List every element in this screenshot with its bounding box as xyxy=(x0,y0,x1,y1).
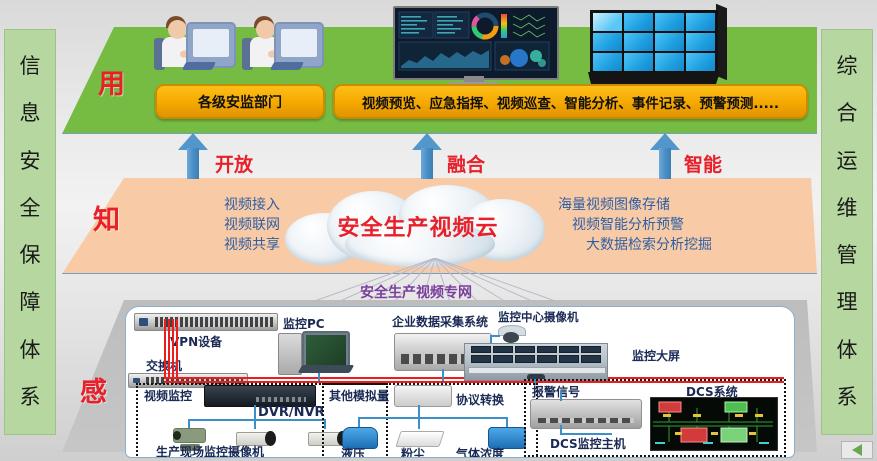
link-dvr-down xyxy=(254,405,256,419)
video-wall-cell xyxy=(593,33,622,51)
layer-tag-use: 用 xyxy=(98,62,125,101)
bus-link xyxy=(168,319,170,377)
link-conv-down xyxy=(418,405,420,417)
dome-camera-icon xyxy=(498,325,524,345)
pc-monitor-icon xyxy=(302,331,350,369)
video-wall-grid xyxy=(590,10,718,74)
arrow-label-intelligent: 智能 xyxy=(684,150,722,177)
dcs-host-icon xyxy=(530,399,642,429)
dvr-nvr-icon xyxy=(204,385,316,407)
side-left-char-4: 保 xyxy=(20,245,41,266)
link-cam-bus xyxy=(188,419,326,421)
side-left-char-1: 息 xyxy=(20,103,41,124)
control-room-photo xyxy=(464,343,608,381)
video-wall-cell xyxy=(655,13,684,31)
pc-keyboard-icon xyxy=(298,365,355,373)
cloud-label: 安全生产视频云 xyxy=(283,185,553,267)
control-room-screens xyxy=(471,346,602,363)
side-left-char-0: 信 xyxy=(20,56,41,77)
cloud-right-item-1: 视频智能分析预警 xyxy=(558,215,788,235)
cloud-capabilities-left: 视频接入 视频联网 视频共享 xyxy=(130,195,280,255)
link-data-collect xyxy=(442,369,444,381)
keyboard-icon xyxy=(182,62,216,70)
video-wall-cell xyxy=(686,33,715,51)
label-group-video: 视频监控 xyxy=(144,387,192,404)
link-monitor-pc xyxy=(318,373,320,381)
vpn-device-icon xyxy=(134,313,278,331)
cr-screen xyxy=(581,355,601,362)
label-field-cameras: 生产现场监控摄像机 xyxy=(156,443,264,458)
cr-screen xyxy=(515,355,535,362)
video-wall-cell xyxy=(686,53,715,71)
video-wall-cell xyxy=(624,33,653,51)
video-wall-cell xyxy=(655,33,684,51)
play-triangle-icon xyxy=(852,444,862,456)
cloud-right-item-0: 海量视频图像存储 xyxy=(558,195,788,215)
side-left-char-6: 体 xyxy=(20,340,41,361)
rack-lamp xyxy=(139,318,148,325)
side-left-char-7: 系 xyxy=(20,387,41,408)
link-cam-2 xyxy=(254,419,256,429)
pill-supervision-departments[interactable]: 各级安监部门 xyxy=(155,84,325,119)
layer-tag-sense: 感 xyxy=(80,370,107,409)
keyboard-icon xyxy=(270,62,304,70)
link-sensor-bus xyxy=(358,417,508,419)
monitor-screen xyxy=(193,29,229,57)
label-center-camera: 监控中心摄像机 xyxy=(498,309,579,325)
dome-lens xyxy=(503,332,520,343)
cloud-left-item-2: 视频共享 xyxy=(130,235,280,255)
label-group-alarm: 报警信号 xyxy=(532,383,580,400)
protocol-converter-icon xyxy=(394,385,452,407)
label-big-screen: 监控大屏 xyxy=(632,347,680,364)
side-left-char-5: 障 xyxy=(20,292,41,313)
pc-monitor-screen xyxy=(306,335,346,365)
device-panel: VPN设备 交换机 监控PC 企业数据采集系统 监控中心摄像机 xyxy=(125,306,795,458)
label-gas: 气体浓度 xyxy=(456,445,504,458)
side-right-char-6: 体 xyxy=(837,340,858,361)
label-data-collect: 企业数据采集系统 xyxy=(392,313,488,330)
cr-screen xyxy=(493,355,513,362)
side-right-char-3: 维 xyxy=(837,198,858,219)
side-right-char-2: 运 xyxy=(837,151,858,172)
cloud-left-item-0: 视频接入 xyxy=(130,195,280,215)
diagram-canvas: 信 息 安 全 保 障 体 系 综 合 运 维 管 理 体 系 用 知 感 xyxy=(0,0,877,461)
arrow-label-open: 开放 xyxy=(215,150,253,177)
video-wall-cell xyxy=(686,13,715,31)
cr-screen xyxy=(559,355,579,362)
cr-screen xyxy=(493,346,513,353)
side-right-char-4: 管 xyxy=(837,245,858,266)
label-hydraulic: 液压 xyxy=(341,445,365,458)
bullet-lens xyxy=(265,431,276,447)
bus-link xyxy=(164,319,166,377)
cloud-capabilities-right: 海量视频图像存储 视频智能分析预警 大数据检索分析挖掘 xyxy=(558,195,788,255)
side-left-char-3: 全 xyxy=(20,198,41,219)
video-wall-cell xyxy=(624,13,653,31)
label-protocol-convert: 协议转换 xyxy=(456,391,504,408)
link-sensor-2 xyxy=(418,417,420,429)
side-panel-right: 综 合 运 维 管 理 体 系 xyxy=(821,29,873,435)
bus-link xyxy=(176,319,178,377)
analytics-dashboard-screen xyxy=(393,6,559,80)
video-wall-cell xyxy=(655,53,684,71)
video-wall-cell xyxy=(624,53,653,71)
cr-screen xyxy=(471,355,491,362)
dvr-front-strip xyxy=(256,397,307,401)
person-head xyxy=(168,20,187,39)
video-wall-cell xyxy=(593,53,622,71)
arrow-up-icon-fusion xyxy=(412,133,442,179)
label-dcs-host: DCS监控主机 xyxy=(550,435,626,452)
corner-marker xyxy=(841,441,873,459)
layer-tag-know: 知 xyxy=(93,198,120,237)
cr-screen xyxy=(515,346,535,353)
side-right-char-1: 合 xyxy=(837,103,858,124)
link-dcs-host xyxy=(560,391,562,401)
video-wall-cell xyxy=(593,13,622,31)
arrow-label-fusion: 融合 xyxy=(447,150,485,177)
cr-screen xyxy=(537,346,557,353)
label-dust: 粉尘 xyxy=(401,445,425,458)
pill-functions[interactable]: 视频预览、应急指挥、视频巡查、智能分析、事件记录、预警预测..... xyxy=(333,84,808,119)
arrow-shaft xyxy=(659,148,671,179)
side-right-char-7: 系 xyxy=(837,387,858,408)
cloud-shape: 安全生产视频云 xyxy=(283,185,553,267)
pc-tower-icon xyxy=(278,333,302,375)
side-right-char-0: 综 xyxy=(837,56,858,77)
label-group-analog: 其他模拟量 xyxy=(329,387,389,404)
operators-illustration xyxy=(150,6,330,84)
cr-screen xyxy=(559,346,579,353)
dashboard-chart-graphics xyxy=(395,8,553,74)
private-network-label: 安全生产视频专网 xyxy=(360,282,472,302)
arrow-shaft xyxy=(421,148,433,179)
side-right-char-5: 理 xyxy=(837,292,858,313)
operator-figure xyxy=(238,6,326,80)
side-panel-left: 信 息 安 全 保 障 体 系 xyxy=(4,29,56,435)
cr-screen xyxy=(471,346,491,353)
cloud-left-item-1: 视频联网 xyxy=(130,215,280,235)
label-monitor-pc: 监控PC xyxy=(283,315,325,332)
side-left-char-2: 安 xyxy=(20,151,41,172)
arrow-up-icon-intelligent xyxy=(650,133,680,179)
operator-figure xyxy=(150,6,238,80)
arrow-up-icon-open xyxy=(178,133,208,179)
monitor-screen xyxy=(281,29,317,57)
cr-screen xyxy=(581,346,601,353)
cloud-right-item-2: 大数据检索分析挖掘 xyxy=(558,235,788,255)
ptz-lens xyxy=(173,431,181,440)
dcs-host-slots xyxy=(538,418,635,423)
video-wall-display xyxy=(590,10,718,74)
dcs-process-graphics xyxy=(651,398,775,448)
person-head xyxy=(256,20,275,39)
label-dvr-nvr: DVR/NVR xyxy=(258,405,325,420)
bus-link xyxy=(172,319,174,377)
arrow-shaft xyxy=(187,148,199,179)
dcs-hmi-screen xyxy=(650,397,778,451)
cr-screen xyxy=(537,355,557,362)
